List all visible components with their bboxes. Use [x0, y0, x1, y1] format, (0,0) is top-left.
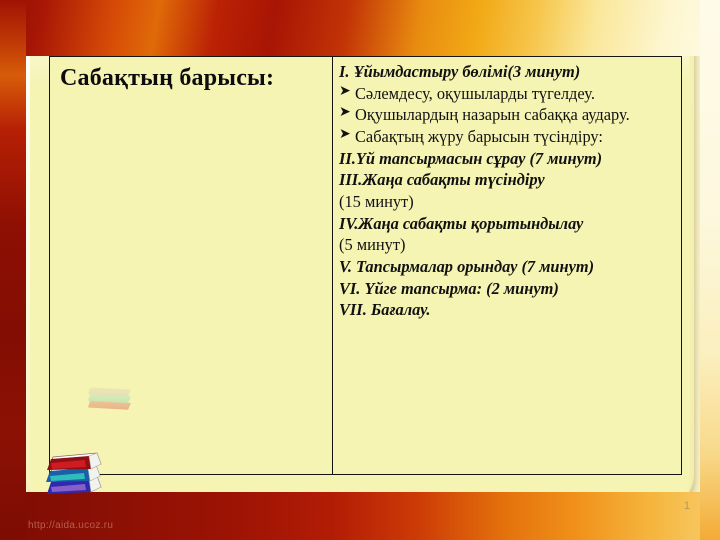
lesson-step-text: Сәлемдесу, оқушыларды түгелдеу. [355, 84, 595, 103]
lesson-step-line: ➤Сәлемдесу, оқушыларды түгелдеу. [339, 83, 675, 105]
slide: Сабақтың барысы: [0, 0, 720, 540]
books-reflection [84, 379, 166, 412]
lesson-step-line: II.Үй тапсырмасын сұрау (7 минут) [339, 148, 675, 170]
lesson-step-line: (15 минут) [339, 191, 675, 213]
lesson-step-text: (5 минут) [339, 235, 405, 254]
lesson-step-text: (15 минут) [339, 192, 414, 211]
frame-top-border [0, 0, 720, 56]
lesson-plan-table: Сабақтың барысы: [49, 56, 682, 475]
frame-left-border [0, 0, 26, 540]
lesson-step-line: V. Тапсырмалар орындау (7 минут) [339, 256, 675, 278]
watermark-url: http://aida.ucoz.ru [28, 520, 113, 531]
lesson-step-text: I. Ұйымдастыру бөлімі(3 минут) [339, 62, 580, 81]
lesson-step-line: IV.Жаңа сабақты қорытындылау [339, 213, 675, 235]
lesson-step-text: III.Жаңа сабақты түсіндіру [339, 170, 545, 189]
lesson-step-text: Оқушылардың назарын сабаққа аудару. [355, 105, 630, 124]
lesson-step-line: VII. Бағалау. [339, 299, 675, 321]
bullet-arrow-icon: ➤ [339, 83, 351, 101]
lesson-step-text: VII. Бағалау. [339, 300, 430, 319]
lesson-step-line: (5 минут) [339, 234, 675, 256]
bullet-arrow-icon: ➤ [339, 104, 351, 122]
table-cell-heading: Сабақтың барысы: [50, 57, 333, 474]
lesson-step-text: Сабақтың жүру барысын түсіндіру: [355, 127, 603, 146]
lesson-step-line: ➤Сабақтың жүру барысын түсіндіру: [339, 126, 675, 148]
lesson-step-text: VI. Үйге тапсырма: (2 минут) [339, 279, 559, 298]
lesson-step-text: II.Үй тапсырмасын сұрау (7 минут) [339, 149, 602, 168]
lesson-step-line: ➤Оқушылардың назарын сабаққа аудару. [339, 104, 675, 126]
bullet-arrow-icon: ➤ [339, 126, 351, 144]
page-title: Сабақтың барысы: [60, 65, 324, 92]
page-number: 1 [684, 500, 690, 512]
lesson-step-text: V. Тапсырмалар орындау (7 минут) [339, 257, 594, 276]
lesson-steps-list: I. Ұйымдастыру бөлімі(3 минут)➤Сәлемдесу… [339, 61, 675, 321]
frame-right-border [700, 0, 720, 540]
lesson-step-line: VI. Үйге тапсырма: (2 минут) [339, 278, 675, 300]
lesson-step-text: IV.Жаңа сабақты қорытындылау [339, 214, 583, 233]
lesson-step-line: I. Ұйымдастыру бөлімі(3 минут) [339, 61, 675, 83]
table-cell-lesson-steps: I. Ұйымдастыру бөлімі(3 минут)➤Сәлемдесу… [333, 57, 681, 474]
lesson-step-line: III.Жаңа сабақты түсіндіру [339, 169, 675, 191]
stack-of-books-icon [39, 430, 117, 520]
